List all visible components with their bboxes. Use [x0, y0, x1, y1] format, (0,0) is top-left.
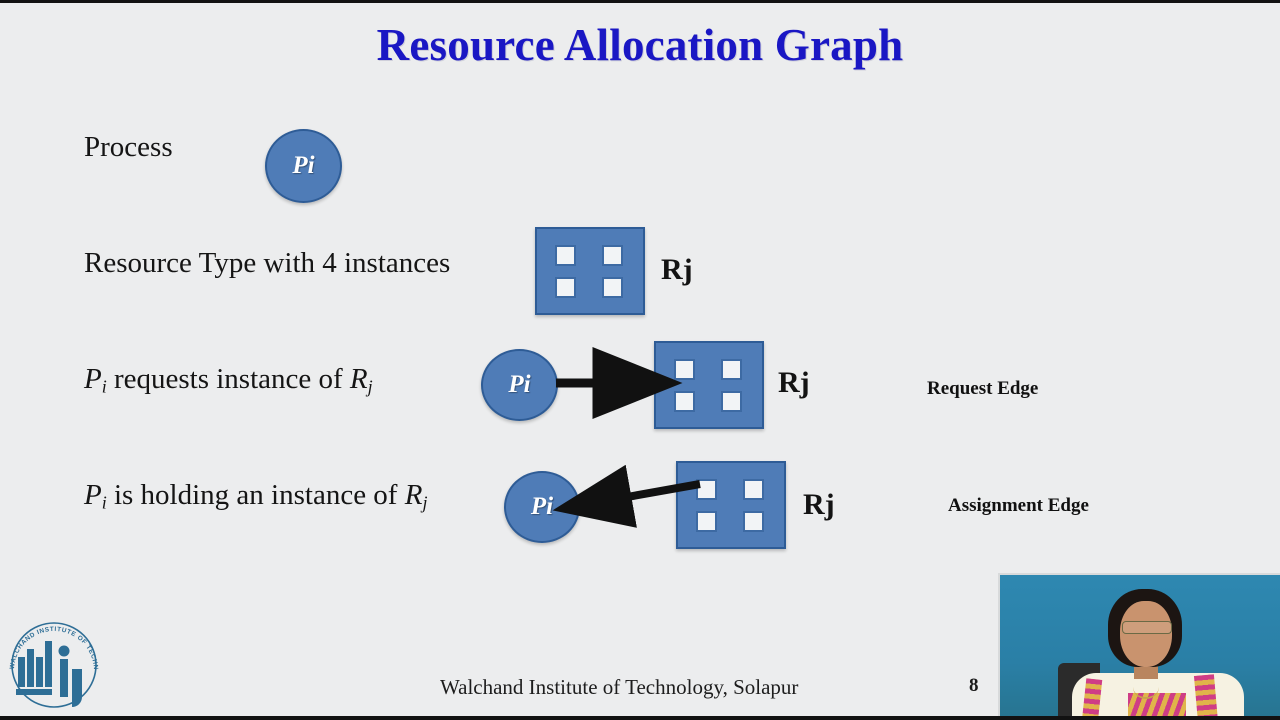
request-edge-caption: Request Edge — [927, 378, 1038, 400]
assignment-row-middle: is holding an instance of — [107, 479, 405, 511]
request-resource-label: Rj — [778, 366, 810, 400]
assignment-row-r: R — [405, 479, 423, 511]
request-row-p: P — [84, 363, 102, 395]
request-row-r: R — [350, 363, 368, 395]
assignment-row-r-sub: j — [422, 492, 427, 512]
resource-instance-square — [721, 359, 742, 380]
resource-instance-square — [743, 479, 764, 500]
request-row-r-sub: j — [368, 376, 373, 396]
resource-type-row-label: Resource Type with 4 instances — [84, 247, 450, 280]
saree-border-right — [1194, 674, 1218, 720]
resource-instance-square — [696, 511, 717, 532]
resource-instance-square — [743, 511, 764, 532]
assignment-row-label: Pi is holding an instance of Rj — [84, 479, 427, 513]
footer-institute: Walchand Institute of Technology, Solapu… — [440, 675, 798, 700]
necklace — [1133, 675, 1159, 699]
resource-node-label: Rj — [661, 253, 693, 287]
assignment-resource-label: Rj — [803, 488, 835, 522]
request-row-label: Pi requests instance of Rj — [84, 363, 373, 397]
resource-instance-square — [674, 359, 695, 380]
presenter-face — [1120, 601, 1172, 667]
request-resource-node — [654, 341, 764, 429]
process-node-label: Pi — [292, 152, 314, 180]
resource-node-box — [535, 227, 645, 315]
process-node-circle: Pi — [265, 129, 342, 203]
glasses-icon — [1122, 621, 1172, 634]
resource-instance-square — [555, 277, 576, 298]
request-row-middle: requests instance of — [107, 363, 350, 395]
assignment-edge-caption: Assignment Edge — [948, 495, 1089, 517]
resource-instance-square — [721, 391, 742, 412]
page-title: Resource Allocation Graph — [0, 19, 1280, 71]
assignment-process-node: Pi — [504, 471, 580, 543]
resource-instance-square — [602, 277, 623, 298]
process-row-label: Process — [84, 131, 173, 164]
assignment-row-p: P — [84, 479, 102, 511]
assignment-process-label: Pi — [531, 493, 553, 521]
resource-instance-square — [602, 245, 623, 266]
page-number: 8 — [969, 675, 979, 697]
assignment-resource-node — [676, 461, 786, 549]
request-process-node: Pi — [481, 349, 558, 421]
presentation-slide: Resource Allocation Graph Process Pi Res… — [0, 0, 1280, 720]
request-process-label: Pi — [508, 371, 530, 399]
institute-logo: WALCHAND INSTITUTE OF TECHNOLOGY — [2, 611, 106, 715]
resource-instance-square — [555, 245, 576, 266]
presenter-video-overlay[interactable] — [998, 573, 1280, 720]
saree-border-middle — [1128, 693, 1186, 720]
resource-instance-square — [696, 479, 717, 500]
resource-instance-square — [674, 391, 695, 412]
